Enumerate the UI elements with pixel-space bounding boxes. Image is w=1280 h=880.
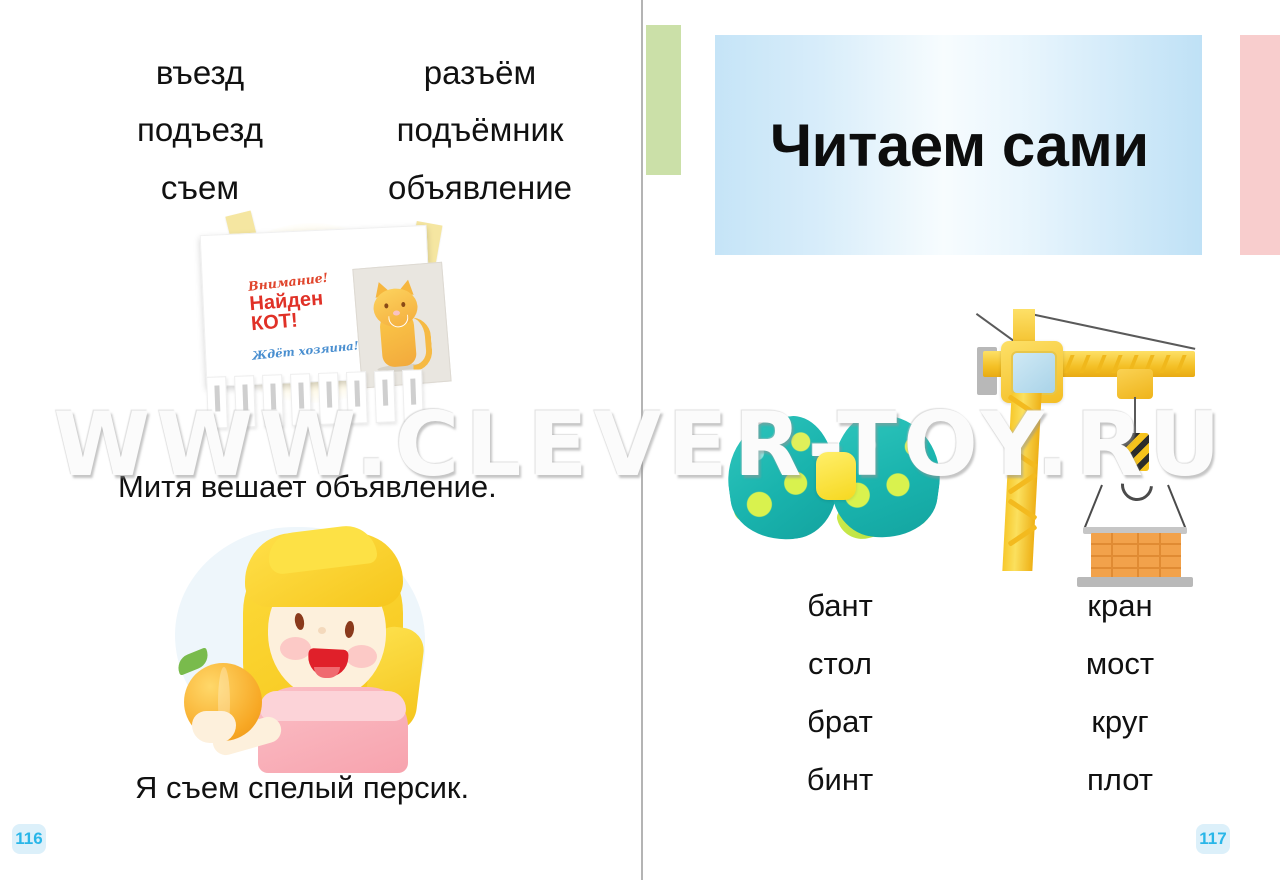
word-item: плот [980,762,1260,798]
word-item: разъём [340,52,620,93]
tear-strip [290,373,312,426]
poster-found-text: Найден КОТ! [249,289,326,334]
lost-cat-poster-illustration: Внимание! Найден КОТ! Ждёт хозяина! [175,205,465,440]
crane-hoist-cable [1134,397,1136,435]
word-item: стол [700,646,980,682]
tear-strip [206,376,228,429]
girl-dress-frill [260,691,406,721]
chapter-banner: Читаем сами [715,35,1202,255]
left-word-list: въезд разъём подъезд подъёмник съем объя… [60,52,620,208]
word-item: бант [700,588,980,624]
sentence-mitya: Митя вешает объявление. [118,469,497,505]
crane-hook-block [1121,433,1149,471]
section-tab-green [646,25,681,175]
page-number-right: 117 [1196,824,1230,854]
poster-waiting-text: Ждёт хозяина! [252,338,360,362]
tear-strip [402,369,424,422]
tear-strip [318,372,340,425]
book-gutter-line [641,0,643,880]
book-spread: въезд разъём подъезд подъёмник съем объя… [0,0,1280,880]
tower-crane-illustration [955,285,1220,575]
tear-strip [346,371,368,424]
girl-with-peach-illustration [140,515,480,765]
girl-cheek [280,637,311,660]
poster-tear-off-strips [206,369,428,432]
crane-trolley [1117,369,1153,399]
word-item: объявление [340,167,620,208]
right-word-list: бант кран стол мост брат круг бинт плот [700,588,1260,798]
word-item: кран [980,588,1260,624]
tear-strip [234,375,256,428]
bow-illustration [720,400,950,580]
word-item: брат [700,704,980,740]
sentence-persik: Я съем спелый персик. [135,770,469,806]
crane-sling [1167,485,1186,528]
section-tab-pink [1240,35,1280,255]
crane-mast-lattice [1009,403,1035,563]
tear-strip [374,370,396,423]
word-item: мост [980,646,1260,682]
word-item: круг [980,704,1260,740]
girl-hand [192,711,236,743]
crane-cab-window [1011,351,1057,395]
word-item: съем [60,167,340,208]
word-item: въезд [60,52,340,93]
poster-found-line2: КОТ! [250,309,298,335]
word-item: подъёмник [340,109,620,150]
tear-strip [262,374,284,427]
poster-paper: Внимание! Найден КОТ! Ждёт хозяина! [200,225,434,387]
girl-cheek [346,645,377,668]
chapter-title: Читаем сами [770,111,1149,180]
brick-pallet [1077,577,1193,587]
girl-nose [318,627,326,634]
word-item: подъезд [60,109,340,150]
word-item: бинт [700,762,980,798]
page-number-left: 116 [12,824,46,854]
brick-load [1091,533,1181,579]
crane-sling [1084,485,1103,528]
bow-knot [816,452,856,500]
